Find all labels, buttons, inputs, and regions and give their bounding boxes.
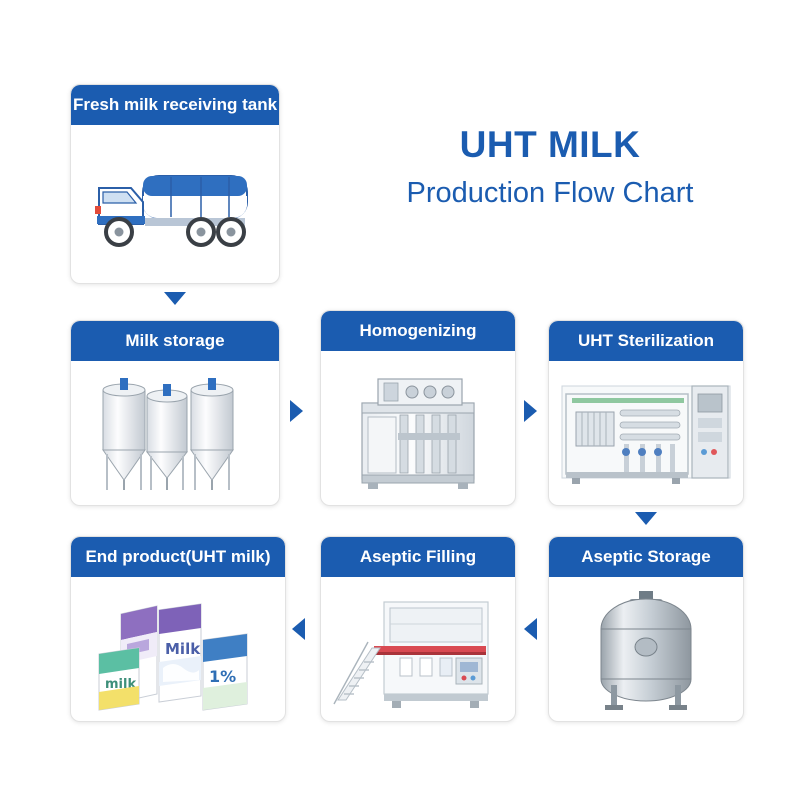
homogenizer-machine-icon <box>338 363 498 493</box>
milk-storage-silo-tanks-icon <box>85 368 265 498</box>
step-image-aseptic-filling <box>321 577 515 721</box>
step-title-aseptic-filling: Aseptic Filling <box>321 537 515 577</box>
step-image-homogenizing <box>321 351 515 505</box>
arrow-storage-to-homogenizing <box>290 400 303 422</box>
step-image-end-product: Milk milk 1% <box>71 577 285 721</box>
aseptic-filling-machine-icon <box>328 584 508 714</box>
milk-carton-packages-icon: Milk milk 1% <box>83 584 273 714</box>
step-title-fresh-milk-receiving-tank: Fresh milk receiving tank <box>71 85 279 125</box>
arrow-aseptic-storage-to-filling <box>524 618 537 640</box>
aseptic-storage-tank-icon <box>571 585 721 713</box>
chart-title-block: UHT MILK Production Flow Chart <box>330 125 770 210</box>
step-card-fresh-milk-receiving-tank[interactable]: Fresh milk receiving tank <box>70 84 280 284</box>
milk-tanker-truck-icon <box>85 144 265 264</box>
step-card-aseptic-storage[interactable]: Aseptic Storage <box>548 536 744 722</box>
step-title-aseptic-storage: Aseptic Storage <box>549 537 743 577</box>
step-card-milk-storage[interactable]: Milk storage <box>70 320 280 506</box>
step-card-homogenizing[interactable]: Homogenizing <box>320 310 516 506</box>
step-image-milk-storage <box>71 361 279 505</box>
page-title: UHT MILK <box>330 125 770 166</box>
svg-text:Milk: Milk <box>165 640 201 658</box>
step-image-aseptic-storage <box>549 577 743 721</box>
step-image-uht-sterilization <box>549 361 743 505</box>
arrow-filling-to-end-product <box>292 618 305 640</box>
step-card-aseptic-filling[interactable]: Aseptic Filling <box>320 536 516 722</box>
svg-text:1%: 1% <box>209 667 236 686</box>
step-title-end-product: End product(UHT milk) <box>71 537 285 577</box>
arrow-sterilization-to-aseptic-storage <box>635 512 657 525</box>
uht-sterilizer-skid-icon <box>556 372 736 494</box>
step-title-homogenizing: Homogenizing <box>321 311 515 351</box>
step-title-uht-sterilization: UHT Sterilization <box>549 321 743 361</box>
arrow-homogenizing-to-sterilization <box>524 400 537 422</box>
step-title-milk-storage: Milk storage <box>71 321 279 361</box>
flow-chart-canvas: UHT MILK Production Flow Chart Fresh mil… <box>0 0 800 800</box>
arrow-tank-to-storage <box>164 292 186 305</box>
step-image-fresh-milk-receiving-tank <box>71 125 279 283</box>
step-card-end-product[interactable]: End product(UHT milk) Milk milk <box>70 536 286 722</box>
page-subtitle: Production Flow Chart <box>330 178 770 210</box>
step-card-uht-sterilization[interactable]: UHT Sterilization <box>548 320 744 506</box>
